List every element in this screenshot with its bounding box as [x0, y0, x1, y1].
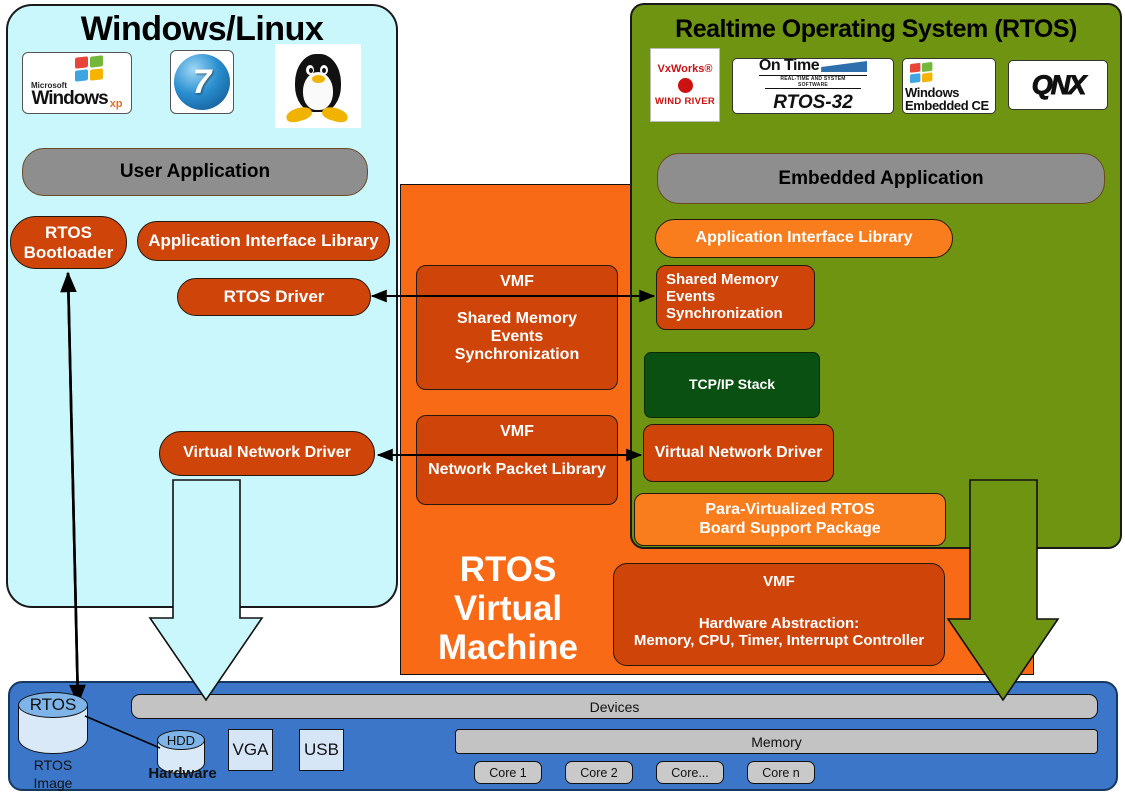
host-app-interface-library-box[interactable]: Application Interface Library	[137, 221, 390, 261]
linux-tux-logo	[275, 44, 361, 128]
memory-bar[interactable]: Memory	[455, 729, 1098, 754]
windows-7-logo: 7	[170, 50, 234, 114]
core-more-chip[interactable]: Core...	[656, 761, 724, 784]
rtos-bootloader-box[interactable]: RTOS Bootloader	[10, 216, 127, 269]
windows-flag-icon	[75, 56, 105, 82]
ontime-swoosh-icon	[821, 61, 867, 72]
usb-port-box[interactable]: USB	[299, 729, 344, 771]
rtos-shared-memory-box[interactable]: Shared Memory Events Synchronization	[656, 265, 815, 330]
tcpip-stack-box[interactable]: TCP/IP Stack	[644, 352, 820, 418]
architecture-diagram: Windows/Linux Microsoft Windows xp 7 Use…	[0, 0, 1125, 797]
windows-wordmark: Windows	[31, 88, 107, 110]
xp-wordmark: xp	[110, 98, 123, 110]
wind-river-mark-icon	[678, 78, 693, 93]
on-time-rtos32-logo: On Time REAL-TIME AND SYSTEM SOFTWARE RT…	[732, 58, 894, 114]
qnx-logo: QNX	[1008, 60, 1108, 110]
rtos-virtual-machine-title: RTOS Virtual Machine	[408, 550, 608, 668]
devices-bar[interactable]: Devices	[131, 694, 1098, 719]
user-application-box[interactable]: User Application	[22, 148, 368, 196]
vga-port-box[interactable]: VGA	[228, 729, 273, 771]
host-virtual-network-driver-box[interactable]: Virtual Network Driver	[159, 431, 375, 476]
vmf-hardware-abstraction-box[interactable]: VMF Hardware Abstraction: Memory, CPU, T…	[613, 563, 945, 666]
core-n-chip[interactable]: Core n	[747, 761, 815, 784]
vmf-shared-memory-box[interactable]: VMF Shared Memory Events Synchronization	[416, 265, 618, 390]
embedded-application-box[interactable]: Embedded Application	[657, 153, 1105, 204]
windows-embedded-ce-logo: Windows Embedded CE	[902, 58, 996, 114]
rtos-app-interface-library-box[interactable]: Application Interface Library	[655, 219, 953, 258]
rtos-virtual-network-driver-box[interactable]: Virtual Network Driver	[643, 424, 834, 482]
windows-7-orb-icon: 7	[174, 54, 230, 110]
vxworks-logo: VxWorks® WIND RIVER	[650, 48, 720, 122]
hardware-caption: Hardware	[135, 765, 230, 782]
windows-xp-logo: Microsoft Windows xp	[22, 52, 132, 114]
rtos-image-disk-icon: RTOS	[18, 692, 88, 754]
rtos-panel-title: Realtime Operating System (RTOS)	[632, 15, 1120, 44]
core-2-chip[interactable]: Core 2	[565, 761, 633, 784]
rtos-image-caption: RTOS Image	[14, 757, 92, 792]
core-1-chip[interactable]: Core 1	[474, 761, 542, 784]
windows-flag-icon	[910, 63, 934, 84]
tux-penguin-icon	[287, 48, 349, 124]
vmf-network-packet-library-box[interactable]: VMF Network Packet Library	[416, 415, 618, 505]
rtos-driver-box[interactable]: RTOS Driver	[177, 278, 371, 316]
para-virtualized-bsp-box[interactable]: Para-Virtualized RTOS Board Support Pack…	[634, 493, 946, 546]
